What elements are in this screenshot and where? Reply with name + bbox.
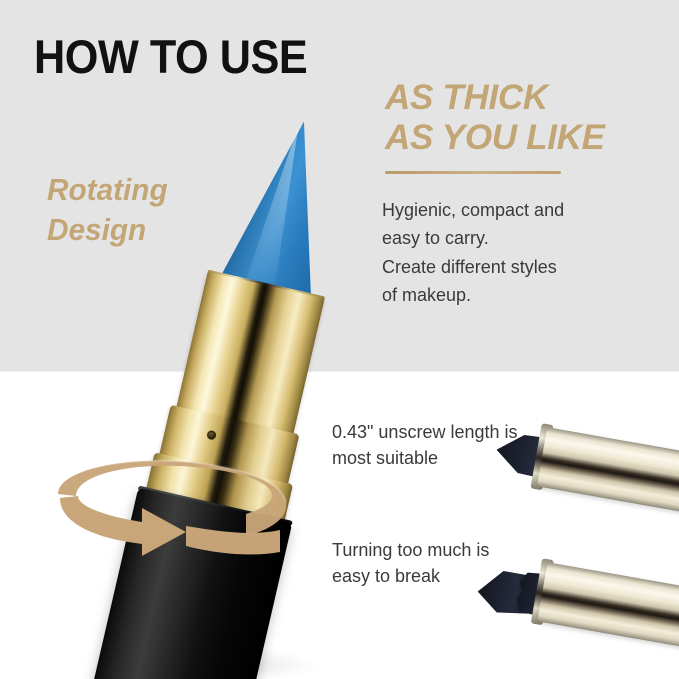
rotating-design-line1: Rotating xyxy=(47,170,168,210)
rotating-design-line2: Design xyxy=(47,210,168,250)
as-thick-heading-line1: AS THICK xyxy=(385,78,605,118)
gold-divider-rule xyxy=(385,171,561,174)
pen-barrel-metallic xyxy=(537,427,679,514)
feature-description-line-2: easy to carry. xyxy=(382,224,652,252)
panel-divider xyxy=(0,371,679,373)
feature-description-line-1: Hygienic, compact and xyxy=(382,196,652,224)
feature-description-line-3: Create different styles xyxy=(382,253,652,281)
infographic-canvas: HOW TO USE Rotating Design AS THICK AS Y… xyxy=(0,0,679,679)
pen-barrel-metallic xyxy=(537,562,679,649)
feature-description: Hygienic, compact and easy to carry. Cre… xyxy=(382,196,652,310)
rotating-design-label: Rotating Design xyxy=(47,170,168,249)
as-thick-heading: AS THICK AS YOU LIKE xyxy=(385,78,605,159)
as-thick-heading-line2: AS YOU LIKE xyxy=(385,118,605,158)
page-title: HOW TO USE xyxy=(34,29,307,84)
feature-description-line-4: of makeup. xyxy=(382,281,652,309)
